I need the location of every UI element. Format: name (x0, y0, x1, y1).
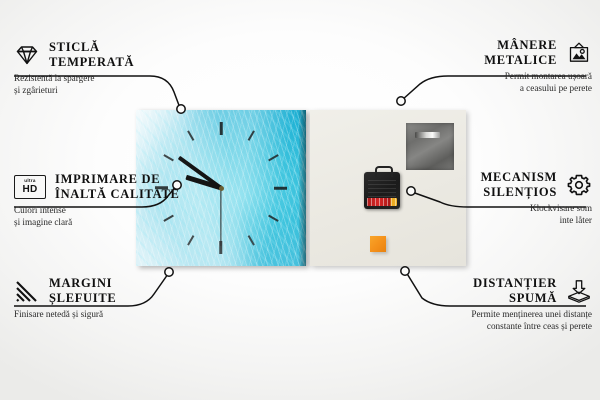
spacer-arrow-icon (566, 279, 592, 303)
picture-frame-hanging-icon (566, 41, 592, 65)
callout-handles: MÂNERE METALICE Permit montarea ușoară a… (382, 38, 592, 94)
callout-edges-head: MARGINI ȘLEFUITE (14, 276, 224, 306)
callout-handles-title: MÂNERE METALICE (484, 38, 557, 68)
callout-glass-title: STICLĂ TEMPERATĂ (49, 40, 134, 70)
callout-mechanism-subtitle: Klockvisare som inte låter (382, 200, 592, 226)
gear-icon (566, 173, 592, 197)
callout-spacer-subtitle: Permite menținerea unei distanțe constan… (382, 306, 592, 332)
callout-mechanism-head: MECANISM SILENȚIOS (382, 170, 592, 200)
callout-glass: STICLĂ TEMPERATĂ Rezistentă la spargere … (14, 40, 224, 96)
leader-dot-handles (397, 97, 405, 105)
callout-mechanism-title: MECANISM SILENȚIOS (481, 170, 557, 200)
foam-spacer (370, 236, 386, 252)
callout-handles-head: MÂNERE METALICE (382, 38, 592, 68)
callout-print-head: ultra HD IMPRIMARE DE ÎNALTĂ CALITATE (14, 172, 224, 202)
callout-glass-subtitle: Rezistentă la spargere și zgârieturi (14, 70, 224, 96)
callout-spacer: DISTANȚIER SPUMĂ Permite menținerea unei… (382, 276, 592, 332)
leader-dot-spacer (401, 267, 409, 275)
ultra-hd-icon-main: HD (22, 185, 37, 195)
callout-print-title: IMPRIMARE DE ÎNALTĂ CALITATE (55, 172, 180, 202)
callout-glass-head: STICLĂ TEMPERATĂ (14, 40, 224, 70)
polished-edges-icon (14, 279, 40, 303)
hanger-plate (406, 123, 454, 170)
callout-mechanism: MECANISM SILENȚIOS Klockvisare som inte … (382, 170, 592, 226)
callout-spacer-head: DISTANȚIER SPUMĂ (382, 276, 592, 306)
callout-handles-subtitle: Permit montarea ușoară a ceasului pe per… (382, 68, 592, 94)
callout-edges-subtitle: Finisare netedă și sigură (14, 306, 224, 321)
hanger-slot (415, 132, 440, 138)
leader-dot-edges (165, 268, 173, 276)
callout-edges-title: MARGINI ȘLEFUITE (49, 276, 116, 306)
callout-print: ultra HD IMPRIMARE DE ÎNALTĂ CALITATE Cu… (14, 172, 224, 228)
callout-edges: MARGINI ȘLEFUITE Finisare netedă și sigu… (14, 276, 224, 321)
callout-print-subtitle: Culori intense și imagine clară (14, 202, 224, 228)
diamond-icon (14, 43, 40, 67)
callout-spacer-title: DISTANȚIER SPUMĂ (473, 276, 557, 306)
ultra-hd-icon: ultra HD (14, 175, 46, 199)
infographic-stage: STICLĂ TEMPERATĂ Rezistentă la spargere … (0, 0, 600, 400)
